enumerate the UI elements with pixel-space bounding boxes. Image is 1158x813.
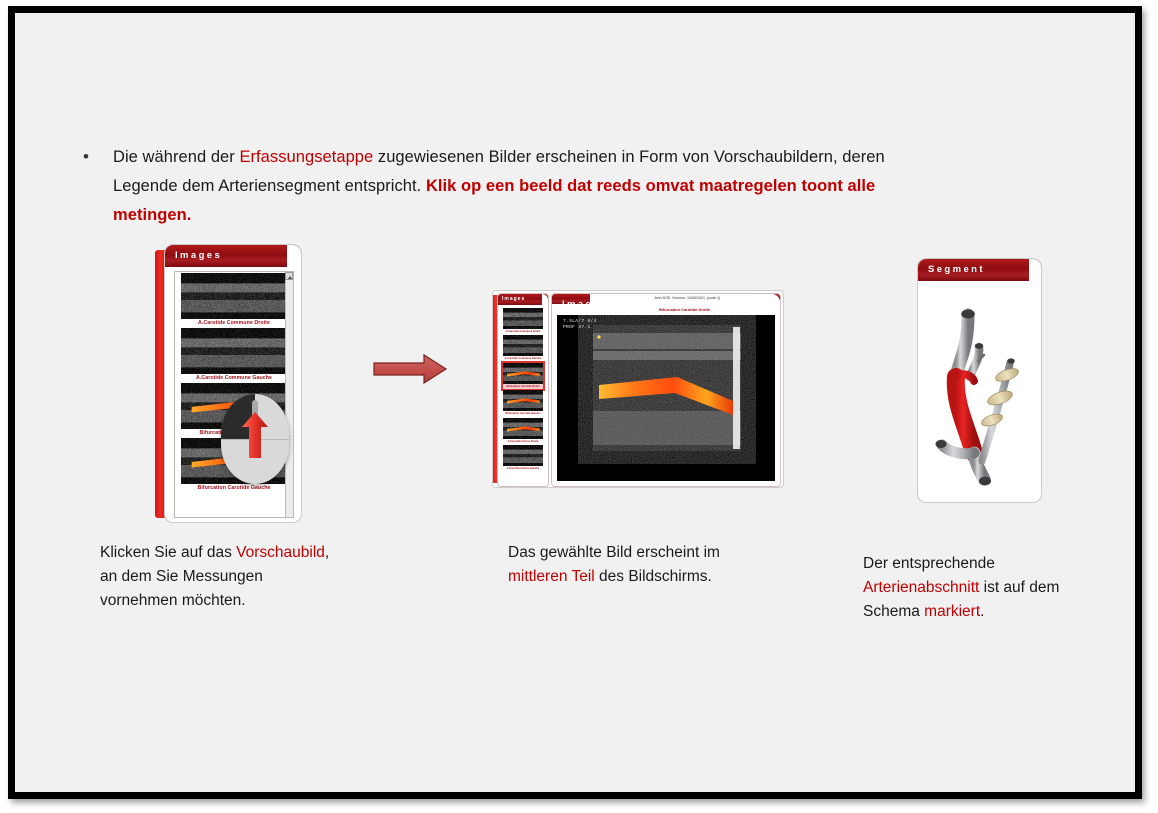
caption-right: Der entsprechende Arterienabschnitt ist …: [863, 552, 1093, 624]
main-viewer-panel[interactable]: Images A.Carotide Commune DroiteA.Caroti…: [492, 290, 782, 486]
caption-2-part2: des Bildschirms.: [595, 568, 712, 585]
caption-3-part1: Der entsprechende: [863, 555, 995, 572]
thumbnail-label: A.Carotide Commune Gauche: [181, 374, 288, 382]
thumbnail-label: Bifurcation Carotide Gauche: [181, 484, 288, 492]
caption-middle: Das gewählte Bild erscheint im mittleren…: [508, 541, 758, 589]
caption-3-highlight-2: markiert: [924, 603, 980, 620]
caption-3-highlight: Arterienabschnitt: [863, 579, 979, 596]
mouse-click-icon: [221, 394, 289, 484]
mini-images-header: Images: [498, 294, 548, 305]
thumbnail-image[interactable]: [181, 328, 288, 374]
mini-thumbnail-label: A.Carotide Commune Droite: [503, 329, 543, 334]
thumbnail-item[interactable]: A.Carotide Commune Droite: [181, 273, 288, 327]
mini-thumbnail-label: Bifurcation Carotide Gauche: [503, 411, 543, 416]
mini-thumbnail-item[interactable]: A.Carotide Interne Gauche: [503, 445, 543, 471]
up-arrow-icon: [242, 412, 268, 458]
mini-thumbnail-image[interactable]: [503, 335, 543, 356]
mini-thumbnail-label: A.Carotide Interne Gauche: [503, 466, 543, 471]
thumbnail-label: A.Carotide Commune Droite: [181, 319, 288, 327]
bullet-marker: •: [83, 148, 91, 165]
mini-thumbnail-image[interactable]: [503, 308, 543, 329]
thumbnail-item[interactable]: A.Carotide Commune Gauche: [181, 328, 288, 382]
scroll-up-arrow-icon[interactable]: [285, 272, 293, 280]
main-viewer-body: Images A.Carotide Commune DroiteA.Caroti…: [492, 290, 784, 488]
caption-left: Klicken Sie auf das Vorschaubild, an dem…: [100, 541, 340, 613]
mini-thumbnail-item[interactable]: Bifurcation Carotide Gauche: [503, 390, 543, 416]
mini-thumbnail-image[interactable]: [503, 418, 543, 439]
mini-thumbnail-item[interactable]: A.Carotide Commune Gauche: [503, 335, 543, 361]
mini-thumbnail-label: Bifurcation Carotide Droite: [503, 384, 543, 389]
caption-1-highlight: Vorschaubild: [236, 544, 325, 561]
caption-2-highlight: mittleren Teil: [508, 568, 595, 585]
bullet-text-part1: Die während der: [113, 148, 239, 166]
mini-thumbnail-item[interactable]: A.Carotide Interne Droite: [503, 418, 543, 444]
right-arrow-icon: [370, 349, 450, 389]
bullet-highlight-erfassungsetappe: Erfassungsetappe: [239, 148, 373, 166]
images-panel-header: Images: [165, 245, 301, 267]
thumbnail-image[interactable]: [181, 273, 288, 319]
caption-3-part3: .: [980, 603, 984, 620]
caption-1-part1: Klicken Sie auf das: [100, 544, 236, 561]
mini-thumbnail-label: A.Carotide Interne Droite: [503, 439, 543, 444]
carotid-artery-diagram: [922, 285, 1038, 499]
image-viewer[interactable]: Image John DOE, Homme, 10/06/1941, (code…: [551, 293, 781, 487]
mini-thumbnail-image[interactable]: [503, 445, 543, 466]
segment-panel-body: Segment: [917, 258, 1042, 503]
mini-thumbnail-image[interactable]: [503, 363, 543, 384]
patient-info: John DOE, Homme, 10/06/1941, (code 1): [602, 295, 772, 301]
viewer-segment-title: Bifurcation Carotide Droite: [592, 307, 777, 313]
bullet-paragraph: • Die während der Erfassungsetappe zugew…: [83, 143, 923, 230]
slide-canvas: • Die während der Erfassungsetappe zugew…: [8, 6, 1142, 799]
ultrasound-image[interactable]: 7.5LA/7 8/4 PROF 37.1 mm |>: [557, 315, 775, 481]
segment-panel-header: Segment: [918, 259, 1042, 281]
segment-panel[interactable]: Segment: [917, 258, 1042, 503]
mini-thumbnail-label: A.Carotide Commune Gauche: [503, 356, 543, 361]
mini-thumbnail-image[interactable]: [503, 390, 543, 411]
caption-2-part1: Das gewählte Bild erscheint im: [508, 544, 720, 561]
mini-thumbnail-item-selected[interactable]: Bifurcation Carotide Droite: [503, 363, 543, 389]
bullet-text: Die während der Erfassungsetappe zugewie…: [113, 143, 923, 230]
mini-thumbnail-item[interactable]: A.Carotide Commune Droite: [503, 308, 543, 334]
mini-thumbnail-panel[interactable]: Images A.Carotide Commune DroiteA.Caroti…: [497, 293, 549, 487]
